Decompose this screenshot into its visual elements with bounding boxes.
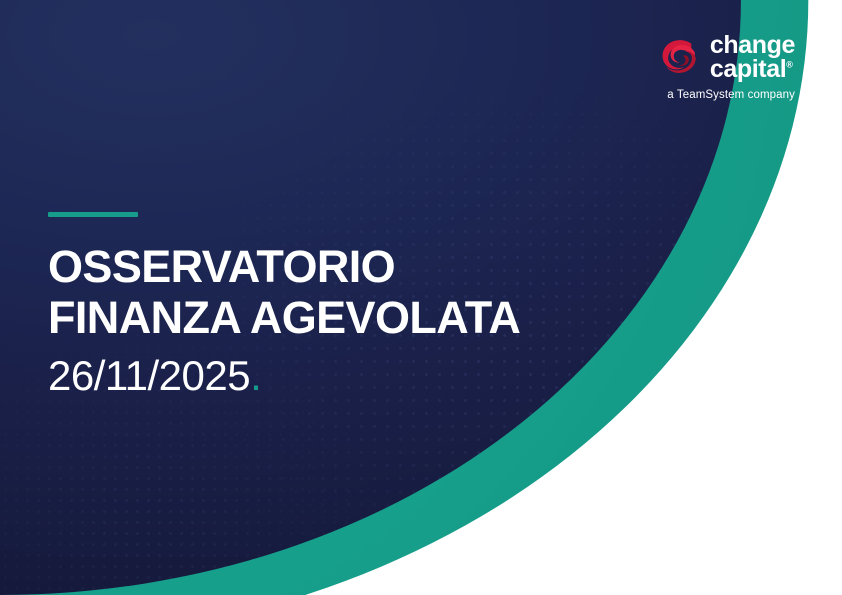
change-capital-logo: change capital® a TeamSystem company [657,33,795,101]
slide-date-dot: . [250,352,261,399]
teal-accent-bar [48,212,138,217]
logo-word-capital: capital® [710,57,795,81]
title-slide: change capital® a TeamSystem company OSS… [0,0,842,595]
change-capital-swirl-icon [657,35,701,79]
registered-trademark-icon: ® [786,60,793,70]
page-title-line-2: FINANZA AGEVOLATA [48,292,520,343]
slide-date: 26/11/2025. [48,354,520,398]
logo-tagline: a TeamSystem company [667,89,795,101]
logo-lockup: change capital® [657,33,795,81]
page-title-line-1: OSSERVATORIO [48,241,520,292]
page-title: OSSERVATORIO FINANZA AGEVOLATA [48,241,520,344]
logo-wordmark: change capital® [710,33,795,81]
logo-word-change: change [710,33,795,57]
headline-block: OSSERVATORIO FINANZA AGEVOLATA 26/11/202… [48,212,520,398]
slide-date-text: 26/11/2025 [48,352,250,399]
